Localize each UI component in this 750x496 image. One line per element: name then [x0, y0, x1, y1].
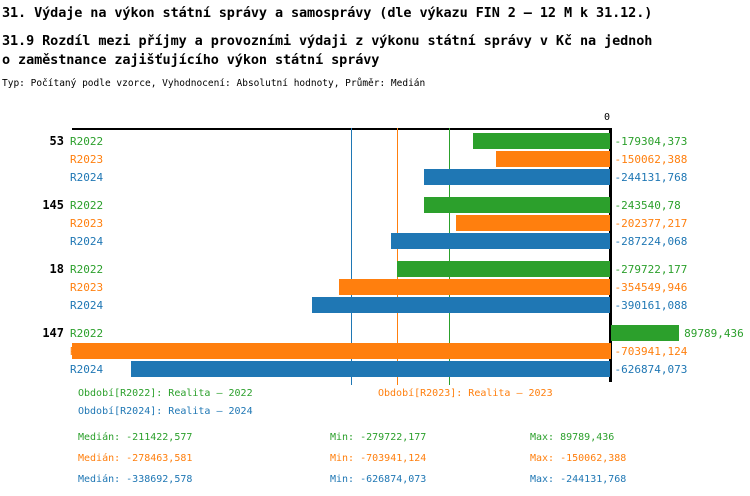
chart-subtitle-line1: 31.9 Rozdíl mezi příjmy a provozními výd… [2, 32, 750, 51]
stat-min: Min: -279722,177 [330, 432, 426, 443]
bar-r2024[interactable] [312, 297, 610, 313]
bar-value-label: -244131,768 [615, 171, 688, 184]
top-axis-line [72, 128, 611, 130]
chart-meta: Typ: Počítaný podle vzorce, Vyhodnocení:… [2, 78, 750, 89]
stat-max: Max: -150062,388 [530, 453, 626, 464]
series-label-r2022: R2022 [70, 263, 103, 276]
bar-value-label: -626874,073 [615, 363, 688, 376]
bar-r2024[interactable] [391, 233, 611, 249]
group-label: 145 [6, 198, 64, 212]
bar-value-label: -202377,217 [615, 217, 688, 230]
series-label-r2023: R2023 [70, 153, 103, 166]
series-label-r2022: R2022 [70, 327, 103, 340]
series-label-r2023: R2023 [70, 217, 103, 230]
bar-value-label: 89789,436 [684, 327, 744, 340]
group-label: 147 [6, 326, 64, 340]
group-label: 53 [6, 134, 64, 148]
bar-value-label: -287224,068 [615, 235, 688, 248]
bar-value-label: -390161,088 [615, 299, 688, 312]
series-label-r2023: R2023 [70, 281, 103, 294]
bar-value-label: -354549,946 [615, 281, 688, 294]
chart-plot-area: 0 53R2022-179304,373R2023-150062,388R202… [0, 110, 750, 385]
bar-value-label: -179304,373 [615, 135, 688, 148]
bar-value-label: -150062,388 [615, 153, 688, 166]
bar-value-label: -279722,177 [615, 263, 688, 276]
bar-r2024[interactable] [424, 169, 611, 185]
bar-r2022[interactable] [611, 325, 680, 341]
series-label-r2024: R2024 [70, 363, 103, 376]
bar-r2023[interactable] [456, 215, 611, 231]
series-label-r2024: R2024 [70, 171, 103, 184]
legend-item: Období[R2024]: Realita – 2024 [78, 406, 253, 417]
stat-max: Max: 89789,436 [530, 432, 614, 443]
stat-min: Min: -626874,073 [330, 474, 426, 485]
stat-min: Min: -703941,124 [330, 453, 426, 464]
stat-median: Medián: -338692,578 [78, 474, 192, 485]
chart-titles: 31. Výdaje na výkon státní správy a samo… [2, 0, 750, 89]
bar-r2023[interactable] [72, 343, 611, 359]
chart-subtitle: 31.9 Rozdíl mezi příjmy a provozními výd… [2, 32, 750, 70]
bar-r2022[interactable] [424, 197, 610, 213]
stat-median: Medián: -211422,577 [78, 432, 192, 443]
series-label-r2022: R2022 [70, 135, 103, 148]
bar-r2023[interactable] [496, 151, 611, 167]
bar-r2022[interactable] [473, 133, 610, 149]
stat-median: Medián: -278463,581 [78, 453, 192, 464]
bar-r2023[interactable] [339, 279, 610, 295]
bar-r2022[interactable] [397, 261, 611, 277]
legend-item: Období[R2023]: Realita – 2023 [378, 388, 553, 399]
series-label-r2022: R2022 [70, 199, 103, 212]
zero-axis-label: 0 [604, 112, 610, 123]
page-title: 31. Výdaje na výkon státní správy a samo… [2, 5, 750, 21]
series-label-r2024: R2024 [70, 299, 103, 312]
bar-value-label: -703941,124 [615, 345, 688, 358]
series-label-r2024: R2024 [70, 235, 103, 248]
group-label: 18 [6, 262, 64, 276]
bar-r2024[interactable] [131, 361, 611, 377]
stat-max: Max: -244131,768 [530, 474, 626, 485]
legend-item: Období[R2022]: Realita – 2022 [78, 388, 253, 399]
chart-subtitle-line2: o zaměstnance zajišťujícího výkon státní… [2, 51, 750, 70]
bar-value-label: -243540,78 [615, 199, 681, 212]
